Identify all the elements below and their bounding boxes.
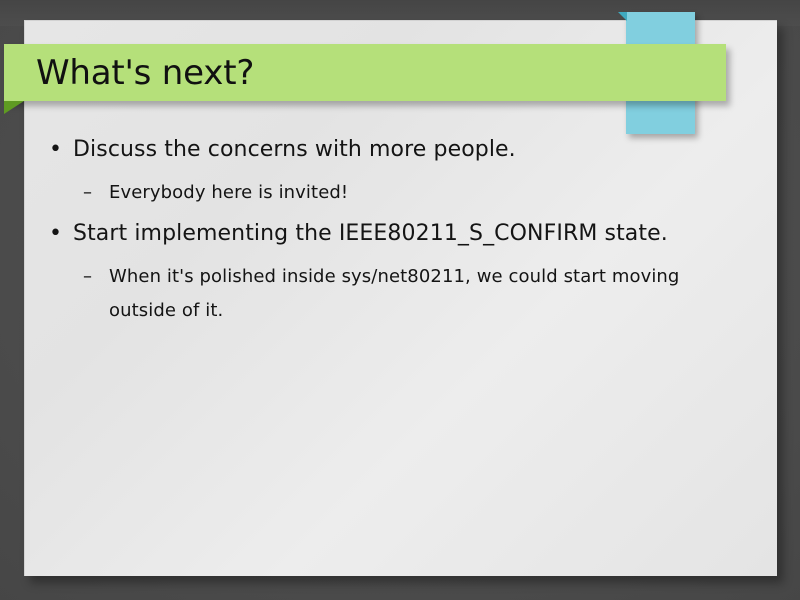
sub-bullet-item: – Everybody here is invited! (24, 176, 776, 210)
sub-bullet-text: Everybody here is invited! (109, 176, 745, 210)
bullet-text: Start implementing the IEEE80211_S_CONFI… (73, 214, 776, 254)
sub-bullet-text: When it's polished inside sys/net80211, … (109, 260, 745, 328)
bullet-item: • Discuss the concerns with more people. (24, 130, 776, 170)
sub-bullet-marker-icon: – (83, 260, 109, 294)
title-band-fold-icon (4, 101, 24, 114)
bullet-marker-icon: • (49, 130, 73, 170)
slide-title: What's next? (36, 45, 254, 101)
presentation-canvas: What's next? • Discuss the concerns with… (0, 0, 800, 600)
bullet-marker-icon: • (49, 214, 73, 254)
decorative-blue-bar-notch-icon (618, 12, 627, 21)
bullet-item: • Start implementing the IEEE80211_S_CON… (24, 214, 776, 254)
bullet-text: Discuss the concerns with more people. (73, 130, 776, 170)
sub-bullet-item: – When it's polished inside sys/net80211… (24, 260, 776, 328)
sub-bullet-marker-icon: – (83, 176, 109, 210)
slide-body: • Discuss the concerns with more people.… (24, 130, 776, 332)
